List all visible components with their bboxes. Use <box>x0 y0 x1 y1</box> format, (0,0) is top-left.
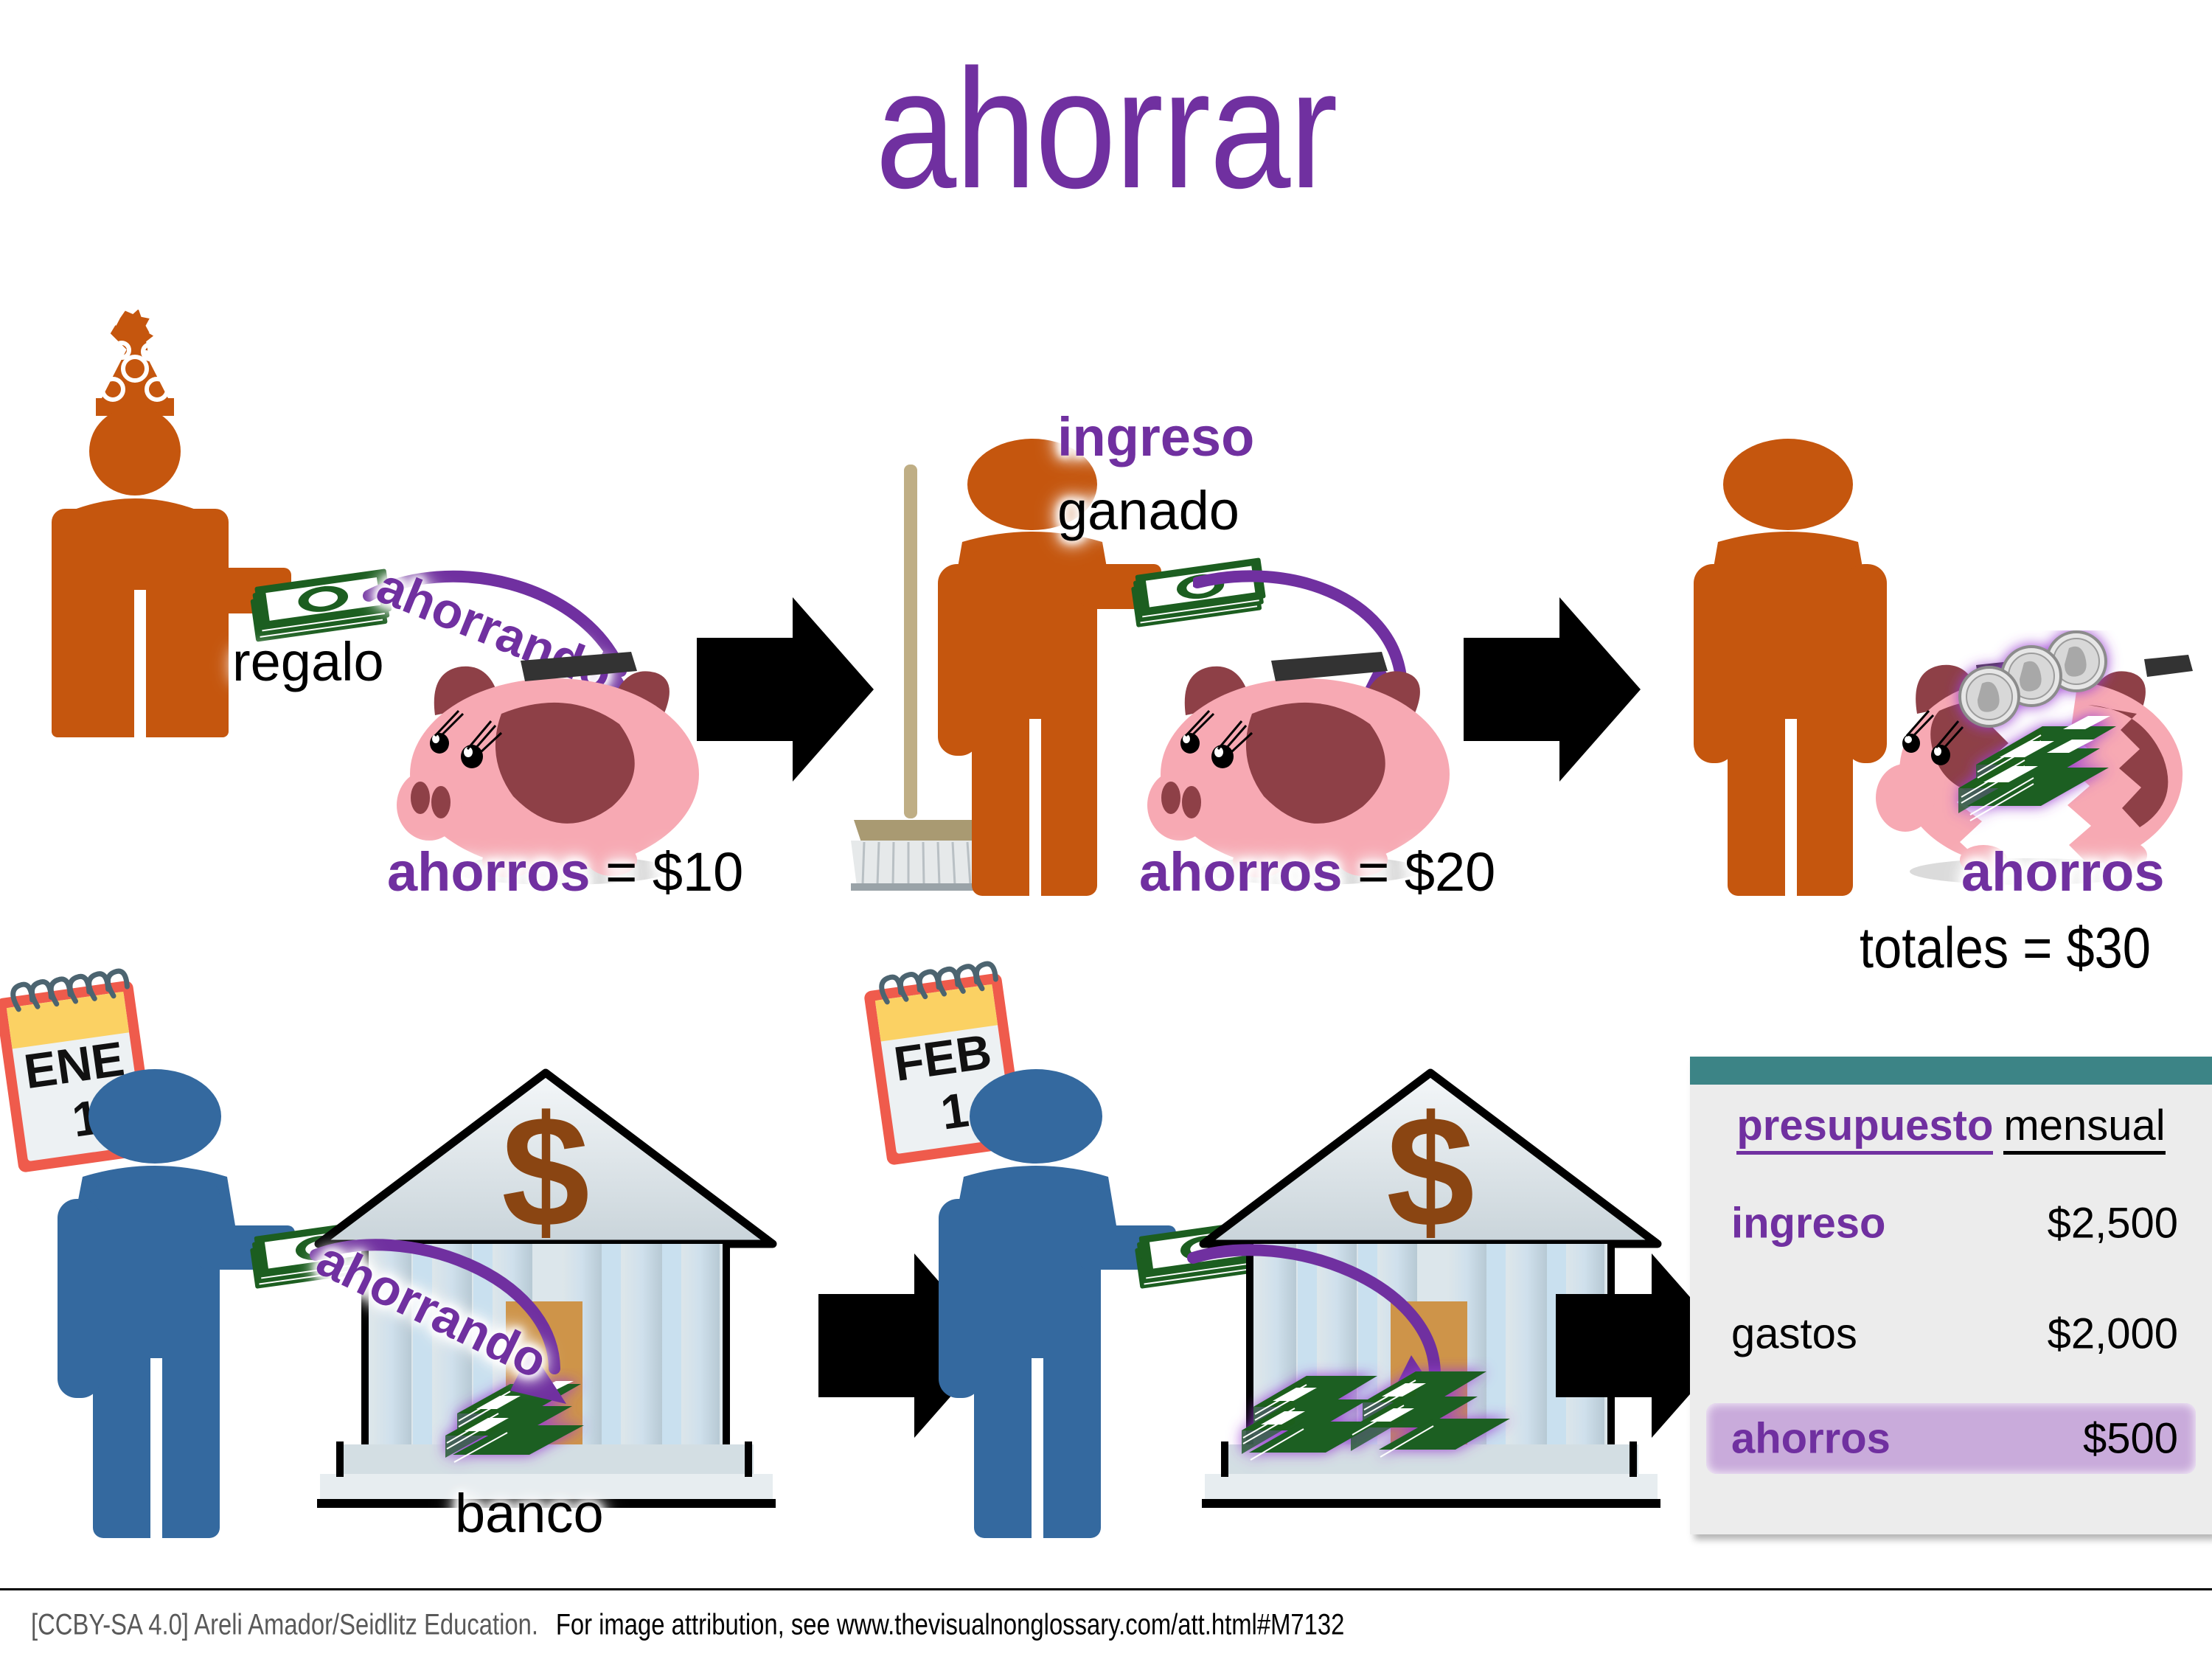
footer-attribution-bar: [CCBY-SA 4.0] Areli Amador/Seidlitz Educ… <box>0 1588 2212 1659</box>
budget-row-income-label: ingreso <box>1731 1199 1886 1248</box>
bank-dollar-symbol-2: $ <box>1386 1082 1475 1260</box>
cash-stack-bank-2 <box>1224 1357 1563 1504</box>
monthly-budget-card: presupuestomensual ingreso $2,500 gastos… <box>1690 1057 2212 1534</box>
person-blue-2 <box>925 1069 1161 1556</box>
savings-label-2: ahorros = $20 <box>1139 841 1495 903</box>
budget-heading-rest: mensual <box>2003 1102 2165 1155</box>
budget-row-income: ingreso $2,500 <box>1706 1188 2196 1259</box>
savings-term-3: ahorros <box>1961 841 2165 903</box>
infographic-canvas: ahorrar <box>0 0 2212 1659</box>
budget-row-expenses-value: $2,000 <box>2048 1310 2178 1359</box>
savings-amount-1: = $10 <box>605 841 743 902</box>
income-term: ingreso <box>1057 406 1254 468</box>
bank-label: banco <box>455 1482 604 1545</box>
budget-row-savings-label: ahorros <box>1731 1414 1891 1464</box>
right-arrow-icon-2 <box>1464 597 1641 782</box>
savings-amount-2: = $20 <box>1357 841 1495 902</box>
budget-row-expenses: gastos $2,000 <box>1706 1298 2196 1369</box>
budget-row-savings-value: $500 <box>2083 1414 2178 1464</box>
coins-and-cash-icon <box>1932 630 2183 852</box>
leg-gap <box>134 590 146 737</box>
person-blue-1 <box>44 1069 280 1556</box>
savings-label-1: ahorros = $10 <box>387 841 743 903</box>
savings-term-1: ahorros <box>387 841 591 902</box>
footer-attribution: For image attribution, see www.thevisual… <box>556 1608 1345 1641</box>
budget-row-savings: ahorros $500 <box>1706 1403 2196 1474</box>
page-title: ahorrar <box>155 44 2057 214</box>
footer-license: [CCBY-SA 4.0] Areli Amador/Seidlitz Educ… <box>31 1608 538 1641</box>
savings-term-2: ahorros <box>1139 841 1343 902</box>
budget-row-income-value: $2,500 <box>2048 1199 2178 1248</box>
savings-total-3: totales = $30 <box>1860 914 2151 981</box>
budget-heading-term: presupuesto <box>1736 1102 1993 1155</box>
card-header-bar <box>1690 1057 2212 1085</box>
right-arrow-icon-1 <box>697 597 874 782</box>
income-sub: ganado <box>1057 479 1239 542</box>
budget-row-expenses-label: gastos <box>1731 1310 1857 1359</box>
budget-heading: presupuestomensual <box>1690 1101 2212 1150</box>
